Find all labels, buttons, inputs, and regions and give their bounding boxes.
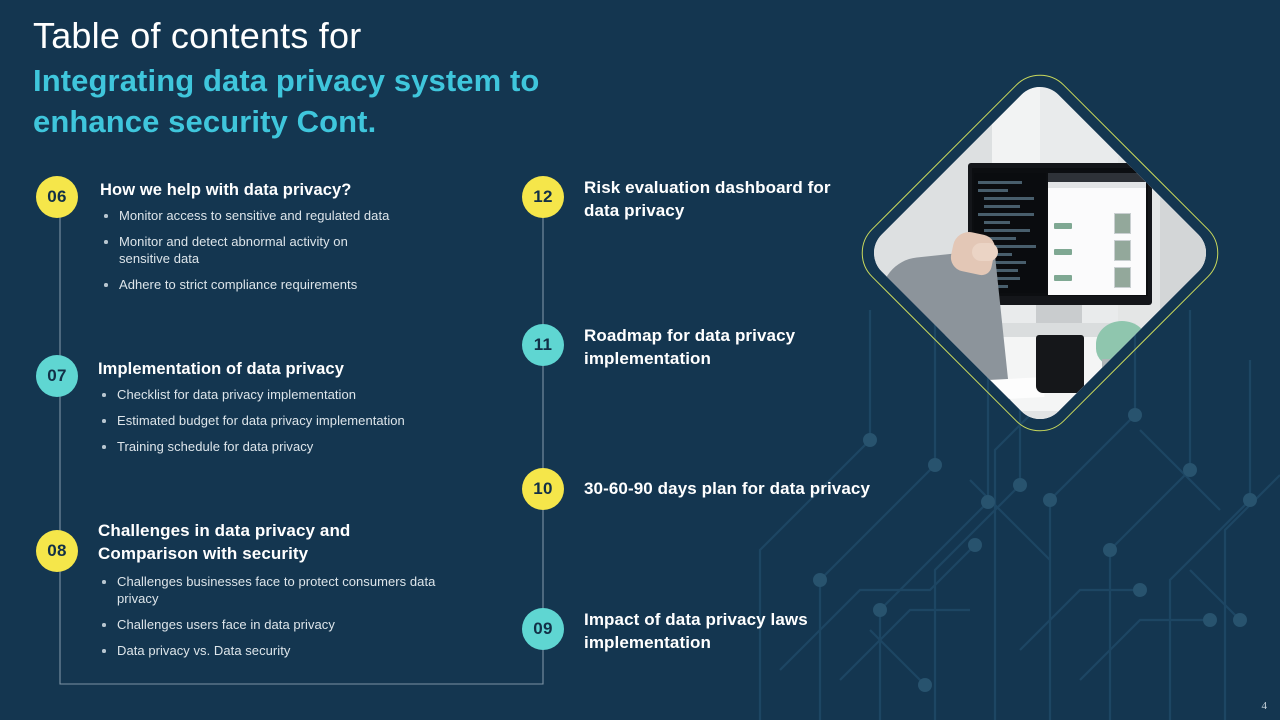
toc-badge-number-06: 06 (36, 176, 78, 218)
toc-title-12: Risk evaluation dashboard for data priva… (584, 176, 864, 222)
list-item: Monitor access to sensitive and regulate… (100, 207, 500, 224)
list-item: Challenges users face in data privacy (98, 616, 528, 633)
toc-bullets-08: Challenges businesses face to protect co… (98, 573, 528, 659)
page-title: Table of contents for Integrating data p… (33, 14, 753, 142)
diamond-photo-mask (863, 76, 1217, 430)
toc-title-11: Roadmap for data privacy implementation (584, 324, 824, 370)
list-item: Challenges businesses face to protect co… (98, 573, 468, 607)
list-item: Adhere to strict compliance requirements (100, 276, 500, 293)
list-item: Monitor and detect abnormal activity on … (100, 233, 390, 267)
toc-badge-number-12: 12 (522, 176, 564, 218)
page-number: 4 (1262, 700, 1268, 712)
list-item: Training schedule for data privacy (98, 438, 518, 455)
toc-badge-number-10: 10 (522, 468, 564, 510)
toc-title-07: Implementation of data privacy (98, 359, 518, 380)
title-line-1: Table of contents for (33, 14, 753, 58)
slide-canvas: Table of contents for Integrating data p… (0, 0, 1280, 720)
toc-bullets-06: Monitor access to sensitive and regulate… (100, 207, 500, 293)
list-item: Estimated budget for data privacy implem… (98, 412, 518, 429)
toc-badge-number-07: 07 (36, 355, 78, 397)
diamond-photo-frame (915, 128, 1165, 378)
toc-badge-number-08: 08 (36, 530, 78, 572)
toc-badge-number-11: 11 (522, 324, 564, 366)
list-item: Data privacy vs. Data security (98, 642, 528, 659)
toc-title-06: How we help with data privacy? (100, 180, 500, 201)
toc-title-08: Challenges in data privacy and Compariso… (98, 519, 418, 565)
toc-bullets-07: Checklist for data privacy implementatio… (98, 386, 518, 455)
list-item: Checklist for data privacy implementatio… (98, 386, 518, 403)
workspace-photo (863, 76, 1217, 430)
toc-title-09: Impact of data privacy laws implementati… (584, 608, 854, 654)
toc-title-10: 30-60-90 days plan for data privacy (584, 477, 964, 500)
toc-badge-number-09: 09 (522, 608, 564, 650)
title-line-2: Integrating data privacy system to enhan… (33, 60, 673, 142)
